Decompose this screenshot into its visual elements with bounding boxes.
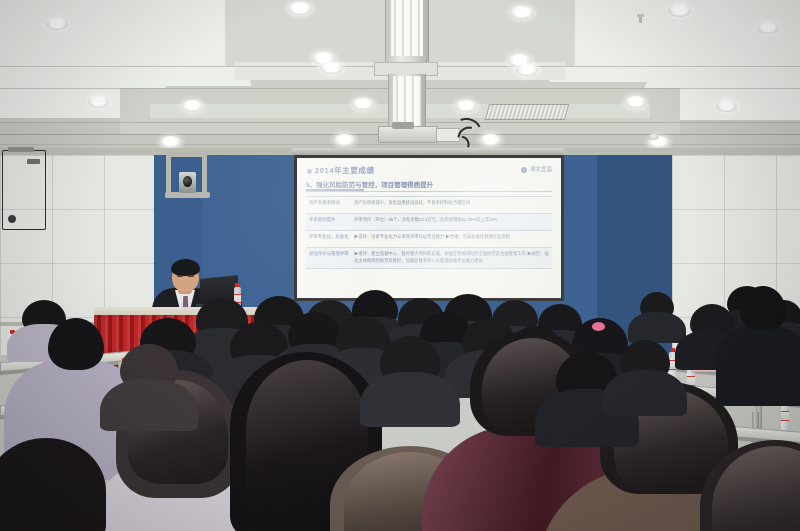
- downlight: [288, 2, 312, 15]
- downlight: [516, 64, 538, 76]
- slide-row-value: ▶境外：建立监督中心，督导重大项目的实施，加强全系统风险的全面防范及合规管理工作…: [352, 248, 552, 268]
- audience-head: [288, 312, 342, 356]
- slide-table-row: 评审类制度件 评审项目（单位）95个，涉及金额23.1万元，比年初增加21.35…: [306, 214, 552, 231]
- slide-subtitle: 5、强化风险防范与管控，项目管理得质提升: [306, 179, 433, 189]
- conference-room-photo: 2014年主要成绩 湖北宜昌 5、强化风险防范与管控，项目管理得质提升 资产负债…: [0, 0, 800, 531]
- projection-screen-frame: 2014年主要成绩 湖北宜昌 5、强化风险防范与管控，项目管理得质提升 资产负债…: [294, 155, 564, 301]
- downlight: [625, 96, 646, 108]
- screen-roller: [292, 148, 564, 155]
- downlight: [88, 96, 109, 108]
- presenter-hair: [171, 259, 200, 276]
- slide-table-row: 评审专业化，标准化 ▶提升：培育专业化力与项目评审队伍专业能力 ▶合规：完成标准…: [306, 231, 552, 248]
- ceiling-panel: [0, 0, 251, 86]
- slide-org-logo: 湖北宜昌: [521, 165, 552, 173]
- audience-dark-suit-right: [716, 286, 800, 396]
- downlight: [160, 136, 181, 148]
- slide-rule: [306, 191, 552, 192]
- downlight: [757, 22, 779, 34]
- audience-head: [640, 292, 674, 320]
- wall-speaker: [2, 150, 46, 230]
- projector-drop-column: [385, 0, 429, 64]
- slide-table-row: 资产负债率情况 资产负债率减少，资金运用状况良好，不良率控制在合理区间: [306, 197, 552, 214]
- downlight: [716, 100, 737, 112]
- slide-row-value: 评审项目（单位）95个，涉及金额23.1万元，比年初增加21.35%较上年40%: [352, 214, 552, 227]
- slide-row-value: 资产负债率减少，资金运用状况良好，不良率控制在合理区间: [352, 197, 552, 210]
- downlight: [352, 98, 374, 110]
- downlight: [46, 18, 68, 30]
- presenter-eye: [177, 275, 183, 277]
- downlight: [455, 100, 477, 112]
- downlight: [510, 6, 534, 19]
- audience-foreground-bottom-left: [0, 438, 106, 531]
- downlight: [668, 4, 691, 17]
- slide-row-value: ▶提升：培育专业化力与项目评审队伍专业能力 ▶合规：完成标准化管理作业流程: [352, 231, 552, 244]
- downlight: [182, 100, 203, 112]
- projector-lens: [392, 122, 414, 129]
- slide-content: 2014年主要成绩 湖北宜昌 5、强化风险防范与管控，项目管理得质提升 资产负债…: [297, 158, 561, 298]
- downlight: [334, 134, 355, 146]
- ptz-camera: [179, 172, 196, 193]
- presenter-eye: [188, 275, 194, 277]
- slide-table: 资产负债率情况 资产负债率减少，资金运用状况良好，不良率控制在合理区间 评审类制…: [306, 196, 552, 293]
- slide-row-key: 资产负债率情况: [306, 197, 352, 210]
- org-logo-mark-icon: [521, 167, 527, 173]
- slide-title-bullet-icon: [307, 169, 312, 174]
- audience-foreground-right: [700, 440, 800, 531]
- audience-head: [620, 340, 670, 382]
- sprinkler-icon: [639, 16, 642, 23]
- slide-row-key: 加强评价与管理评审: [306, 248, 352, 261]
- audience-head: [120, 344, 178, 392]
- audience-head: [380, 336, 440, 386]
- projection-screen: 2014年主要成绩 湖北宜昌 5、强化风险防范与管控，项目管理得质提升 资产负债…: [297, 158, 561, 298]
- slide-title: 2014年主要成绩: [307, 165, 375, 176]
- slide-table-row: 加强评价与管理评审 ▶境外：建立监督中心，督导重大项目的实施，加强全系统风险的全…: [306, 248, 552, 269]
- ptz-camera-bracket: [166, 152, 210, 202]
- smoke-detector-icon: [648, 134, 659, 140]
- downlight: [320, 62, 343, 74]
- slide-row-key: 评审类制度件: [306, 214, 352, 227]
- slide-row-key: 评审专业化，标准化: [306, 231, 352, 244]
- air-vent: [485, 104, 570, 120]
